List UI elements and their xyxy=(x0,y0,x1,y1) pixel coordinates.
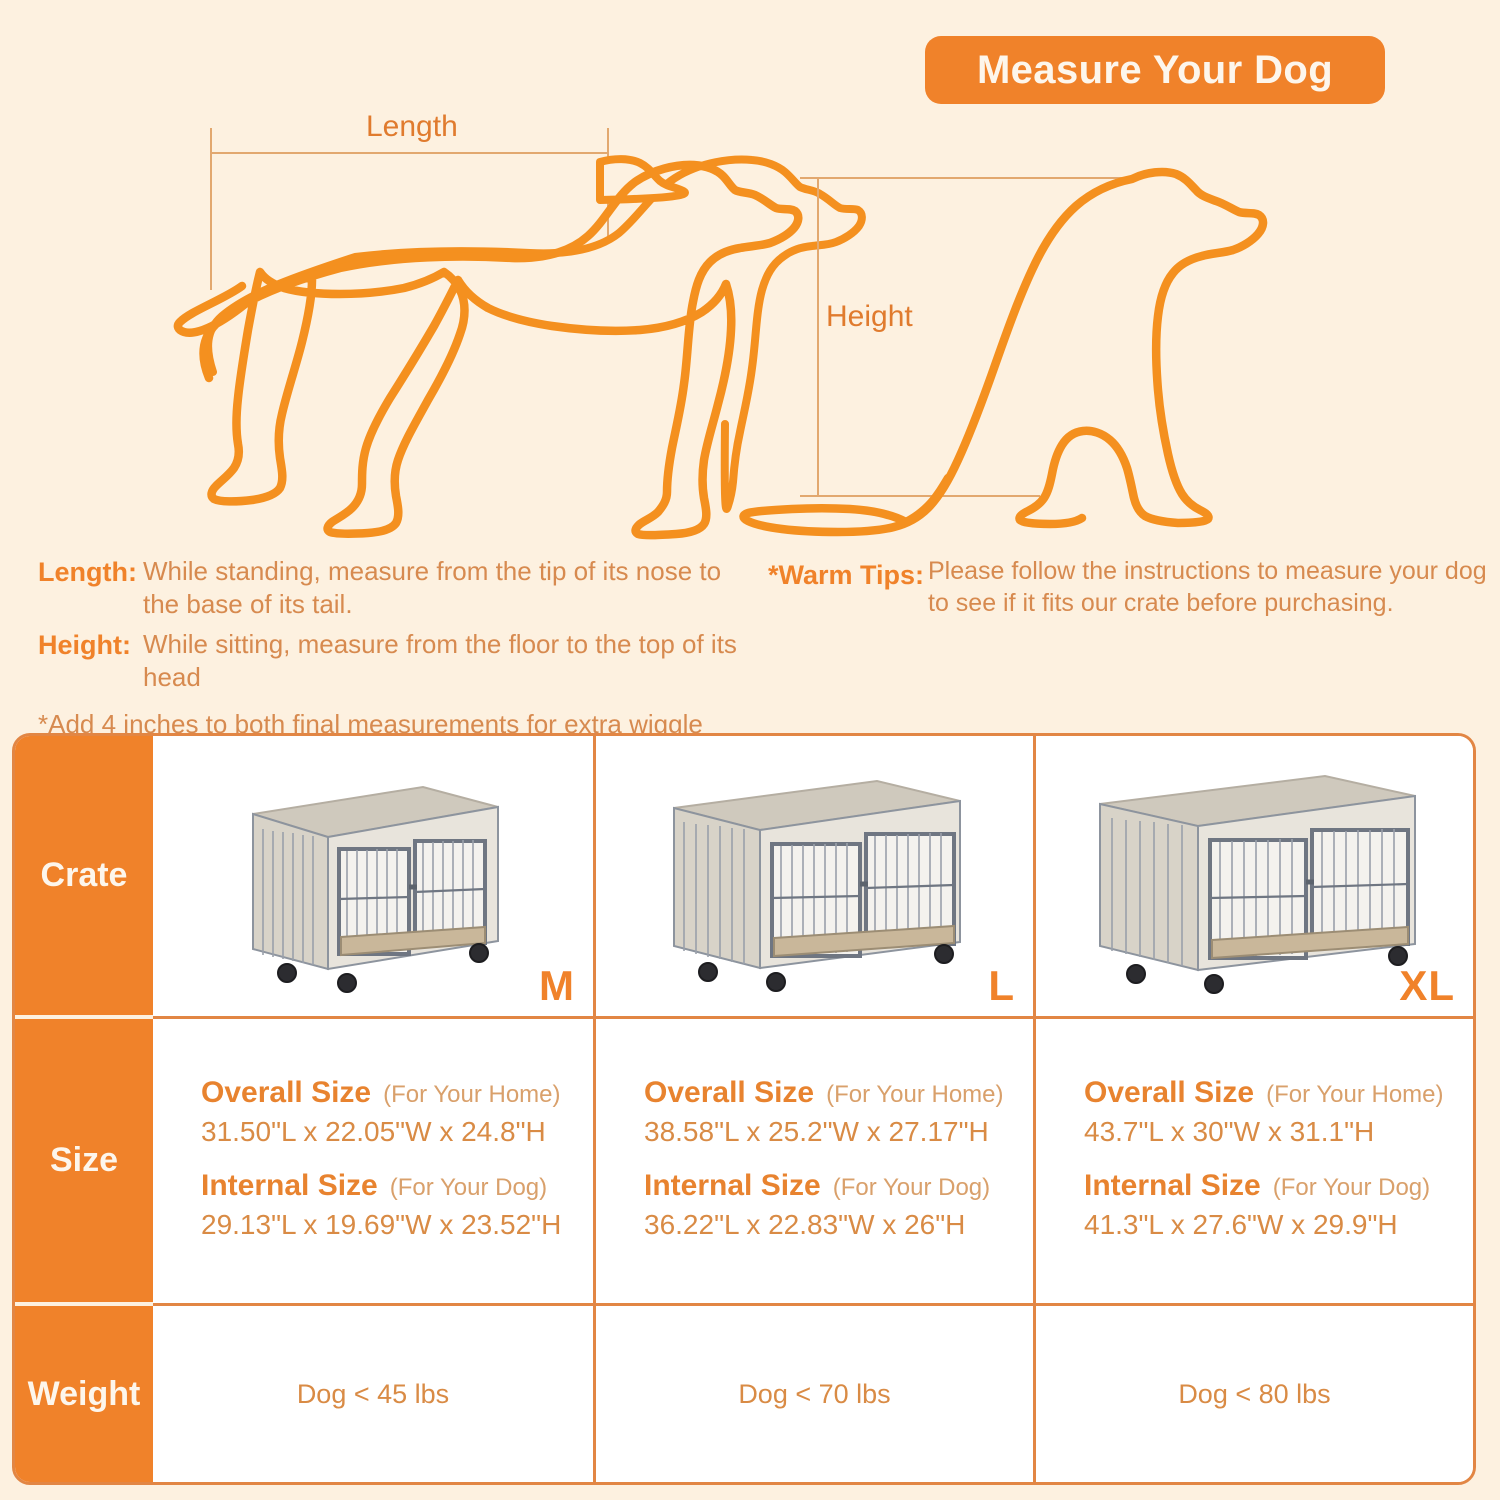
warm-tips: *Warm Tips: Please follow the instructio… xyxy=(768,556,1488,625)
size-tag-xl: XL xyxy=(1399,962,1455,1010)
dog-crate-furniture-xlarge-icon xyxy=(1070,754,1440,999)
weight-value-xl: Dog < 80 lbs xyxy=(1178,1379,1330,1410)
overall-size-title-xl: Overall Size xyxy=(1084,1076,1254,1110)
length-instruction-row: Length: While standing, measure from the… xyxy=(38,555,738,622)
overall-size-dims-xl: 43.7"L x 30"W x 31.1"H xyxy=(1084,1112,1374,1153)
internal-size-dims-xl: 41.3"L x 27.6"W x 29.9"H xyxy=(1084,1205,1398,1246)
weight-value-l: Dog < 70 lbs xyxy=(738,1379,890,1410)
height-dimension-label: Height xyxy=(826,300,913,334)
weight-cell-l: Dog < 70 lbs xyxy=(593,1306,1033,1482)
row-label-weight: Weight xyxy=(15,1306,153,1482)
overall-size-dims-l: 38.58"L x 25.2"W x 27.17"H xyxy=(644,1112,989,1153)
internal-size-dims-l: 36.22"L x 22.83"W x 26"H xyxy=(644,1205,965,1246)
measure-diagram: Length Height xyxy=(0,0,1500,545)
length-measure-guide xyxy=(211,128,608,290)
height-instruction-row: Height: While sitting, measure from the … xyxy=(38,628,738,695)
row-label-crate: Crate xyxy=(15,736,153,1019)
overall-size-title-m: Overall Size xyxy=(201,1076,371,1110)
size-tag-m: M xyxy=(539,962,575,1010)
height-measure-guide xyxy=(800,178,1140,496)
size-tag-l: L xyxy=(988,962,1015,1010)
spec-table: Crate xyxy=(12,733,1476,1485)
weight-value-m: Dog < 45 lbs xyxy=(297,1379,449,1410)
length-dimension-label: Length xyxy=(366,110,458,144)
warm-tips-row: *Warm Tips: Please follow the instructio… xyxy=(768,556,1488,619)
size-cell-l: Overall Size (For Your Home) 38.58"L x 2… xyxy=(593,1019,1033,1306)
overall-size-dims-m: 31.50"L x 22.05"W x 24.8"H xyxy=(201,1112,546,1153)
internal-size-paren-m: (For Your Dog) xyxy=(390,1174,547,1202)
dog-sitting-ground-tail xyxy=(906,478,948,522)
crate-cell-m: M xyxy=(153,736,593,1019)
overall-size-paren-l: (For Your Home) xyxy=(826,1081,1003,1109)
dog-crate-furniture-large-icon xyxy=(642,756,987,996)
overall-size-paren-m: (For Your Home) xyxy=(383,1081,560,1109)
dog-crate-furniture-medium-icon xyxy=(223,759,523,994)
overall-size-paren-xl: (For Your Home) xyxy=(1266,1081,1443,1109)
internal-size-dims-m: 29.13"L x 19.69"W x 23.52"H xyxy=(201,1205,561,1246)
size-cell-m: Overall Size (For Your Home) 31.50"L x 2… xyxy=(153,1019,593,1306)
crate-cell-xl: XL xyxy=(1033,736,1473,1019)
internal-size-title-l: Internal Size xyxy=(644,1169,821,1203)
warm-tips-text: Please follow the instructions to measur… xyxy=(928,556,1488,619)
length-instruction-key: Length: xyxy=(38,555,143,590)
weight-cell-xl: Dog < 80 lbs xyxy=(1033,1306,1473,1482)
infographic-root: Measure Your Dog Len xyxy=(0,0,1500,1500)
row-label-size: Size xyxy=(15,1019,153,1306)
internal-size-title-m: Internal Size xyxy=(201,1169,378,1203)
internal-size-paren-l: (For Your Dog) xyxy=(833,1174,990,1202)
diagram-svg xyxy=(0,0,1500,545)
weight-cell-m: Dog < 45 lbs xyxy=(153,1306,593,1482)
crate-cell-l: L xyxy=(593,736,1033,1019)
length-instruction-text: While standing, measure from the tip of … xyxy=(143,555,738,622)
height-instruction-key: Height: xyxy=(38,628,143,663)
height-instruction-text: While sitting, measure from the floor to… xyxy=(143,628,738,695)
dog-sitting-outline xyxy=(744,172,1264,532)
overall-size-title-l: Overall Size xyxy=(644,1076,814,1110)
internal-size-paren-xl: (For Your Dog) xyxy=(1273,1174,1430,1202)
warm-tips-key: *Warm Tips: xyxy=(768,556,928,593)
dog-standing-outline xyxy=(178,165,798,535)
internal-size-title-xl: Internal Size xyxy=(1084,1169,1261,1203)
size-cell-xl: Overall Size (For Your Home) 43.7"L x 30… xyxy=(1033,1019,1473,1306)
